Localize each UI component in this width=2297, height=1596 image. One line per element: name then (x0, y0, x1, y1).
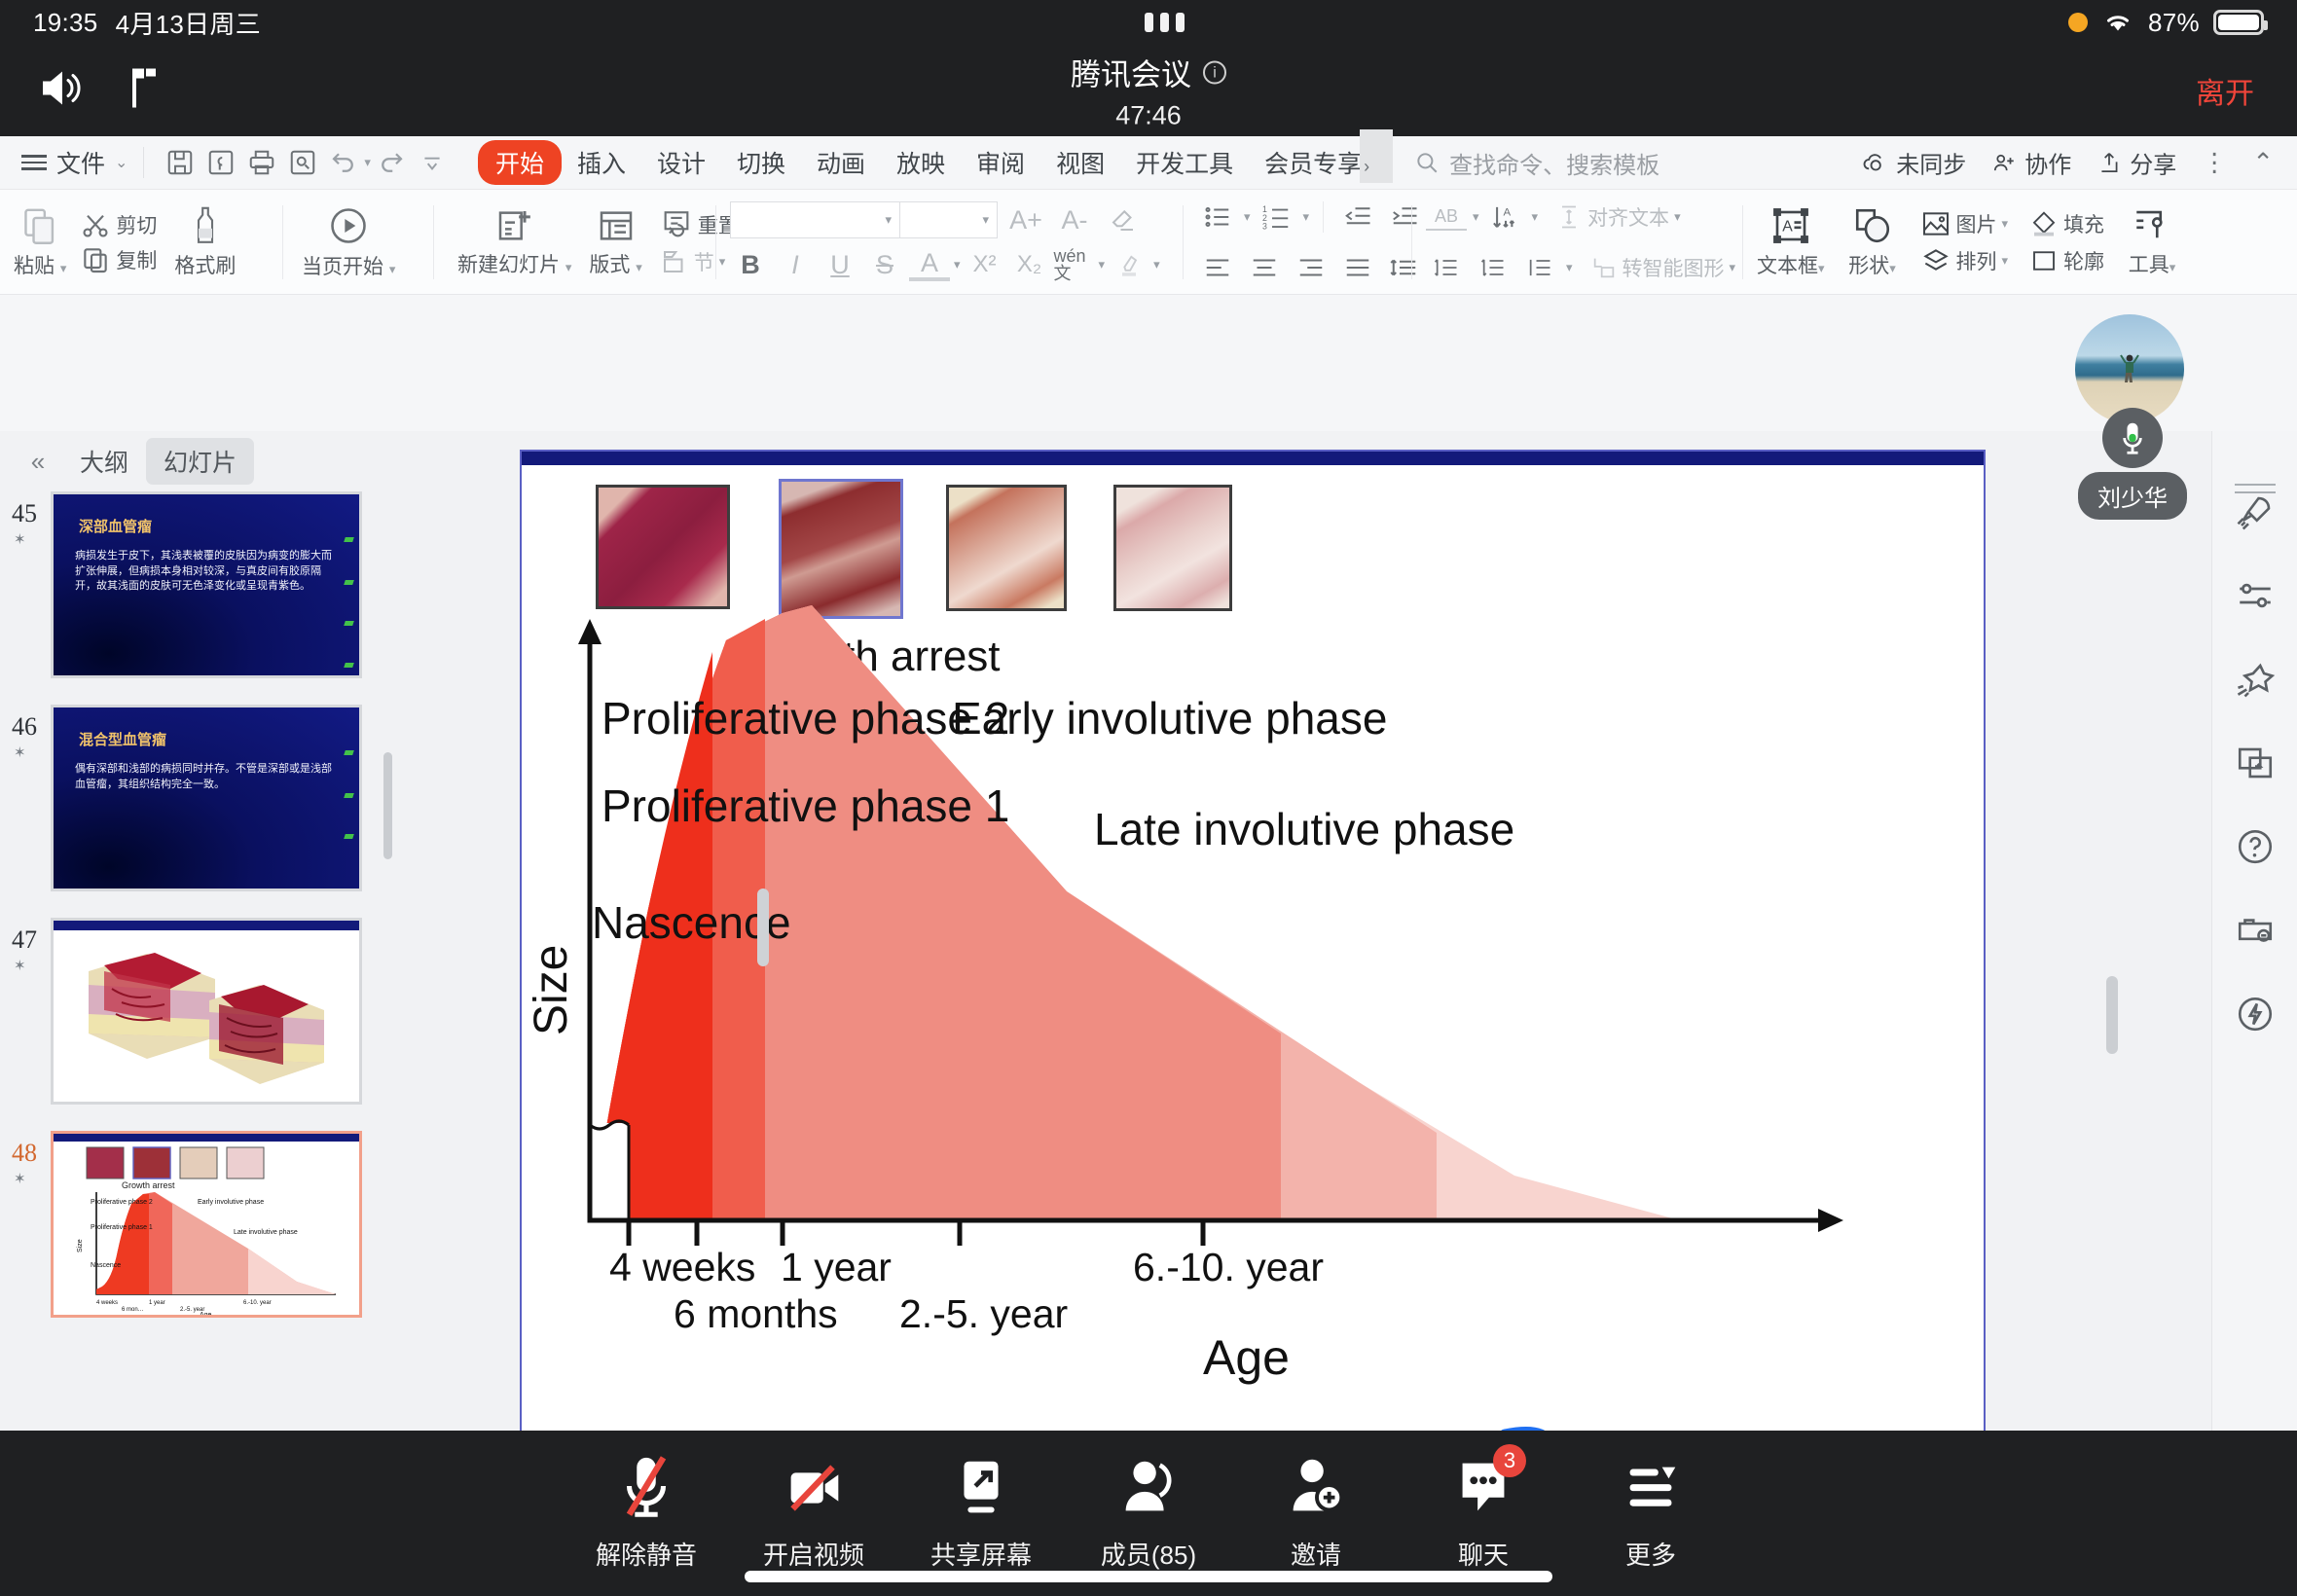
textbox-button[interactable]: A 文本框▾ (1757, 205, 1825, 279)
person-silhouette (2120, 351, 2139, 384)
format-painter-icon (189, 205, 222, 246)
align-right-button[interactable] (1291, 248, 1331, 287)
svg-text:A: A (1503, 207, 1511, 219)
print-preview-icon[interactable] (282, 142, 323, 183)
home-indicator (745, 1571, 1552, 1582)
status-right: 87% (2068, 8, 2264, 38)
bold-button[interactable]: B (730, 245, 771, 284)
chat-button[interactable]: 3 聊天 (1400, 1452, 1567, 1572)
arrange-label: 排列 (1956, 246, 1997, 275)
dynamic-island (1145, 13, 1185, 32)
shrink-font-button[interactable]: A- (1054, 200, 1095, 239)
decoration (344, 663, 354, 668)
chevron-down-icon: ▾ (60, 261, 67, 275)
start-from-current-label: 当页开始 (302, 256, 383, 278)
svg-text:6 mon…: 6 mon… (122, 1307, 144, 1313)
customize-toolbar-icon[interactable] (412, 142, 453, 183)
thumb-body: 偶有深部和浅部的病损同时并存。不管是深部或是浅部血管瘤，其组织结构完全一致。 (75, 762, 342, 792)
group-clipboard: 粘贴 ▾ 剪切 复制 格式刷 (14, 190, 236, 295)
align-center-button[interactable] (1244, 248, 1285, 287)
section-button[interactable]: 节 ▾ (660, 247, 739, 276)
tab-vip[interactable]: 会员专享› (1249, 141, 1385, 184)
clear-format-button[interactable] (1103, 200, 1144, 239)
layout-button[interactable]: 版式 ▾ (589, 206, 641, 278)
chevron-down-icon[interactable]: ▾ (1244, 209, 1251, 225)
unmute-label: 解除静音 (596, 1536, 697, 1572)
chevron-down-icon: ▾ (719, 254, 726, 270)
svg-text:Early involutive phase: Early involutive phase (198, 1199, 264, 1206)
outline-icon (2029, 246, 2059, 275)
fill-label: 填充 (2063, 209, 2104, 238)
decoration (344, 834, 354, 839)
ribbon-command-bar: 粘贴 ▾ 剪切 复制 格式刷 (0, 190, 2297, 295)
mic-status-icon (2102, 408, 2163, 468)
chevron-down-icon: ▾ (2002, 216, 2009, 232)
pane-header: « 大纲 幻灯片 (0, 431, 399, 491)
svg-text:Proliferative phase 1: Proliferative phase 1 (91, 1224, 153, 1231)
print-icon[interactable] (241, 142, 282, 183)
magic-star-icon[interactable] (2212, 637, 2297, 721)
save-icon[interactable] (160, 142, 201, 183)
search-icon (1414, 150, 1440, 175)
ribbon-tab-bar: 文件 ⌄ ▾ 开始 插入 设计 切换 动 (0, 136, 2297, 190)
battery-icon (2213, 10, 2264, 35)
chevron-down-icon: ▾ (1674, 209, 1681, 225)
meeting-header: 腾讯会议 i 47:46 离开 (0, 45, 2297, 136)
meeting-title: 腾讯会议 (1071, 51, 1191, 94)
share-screen-label: 共享屏幕 (930, 1536, 1032, 1572)
svg-text:Late involutive phase: Late involutive phase (234, 1229, 298, 1236)
align-left-button[interactable] (1197, 248, 1238, 287)
group-present: 当页开始 ▾ (302, 190, 395, 295)
tab-transition[interactable]: 切换 (721, 141, 801, 184)
x-axis-arrow (1818, 1209, 1843, 1232)
group-insert: A 文本框▾ 形状▾ 图片 ▾ (1757, 190, 2178, 295)
sort-button[interactable]: A (1485, 198, 1526, 236)
decoration (344, 793, 354, 798)
chevron-down-icon: ▾ (565, 260, 572, 274)
file-menu-button[interactable]: 文件 ⌄ (21, 145, 128, 180)
participant-name: 刘少华 (2078, 472, 2187, 520)
chevron-down-icon: ▾ (982, 212, 989, 228)
align-text-icon (1555, 203, 1583, 231)
share-screen-button[interactable]: 共享屏幕 (897, 1452, 1065, 1572)
meeting-header-icons (39, 67, 160, 115)
grow-font-button[interactable]: A+ (1005, 200, 1046, 239)
xtick-label-0: 4 weeks (609, 1245, 755, 1289)
format-painter-button[interactable]: 格式刷 (174, 205, 236, 279)
tab-slides[interactable]: 幻灯片 (146, 438, 254, 485)
ribbon-right-tools: 未同步 协作 分享 ⋮ ⌃ (1861, 146, 2274, 180)
slide-canvas-area: Growth arrest (399, 431, 2211, 1567)
ios-status-bar: 19:35 4月13日周三 87% (0, 0, 2297, 45)
chevron-down-icon[interactable]: ▾ (954, 257, 961, 272)
chevron-down-icon[interactable]: ▾ (1566, 260, 1573, 275)
recording-indicator-icon (2068, 13, 2088, 32)
hamburger-icon (21, 155, 47, 170)
shapes-label: 形状 (1848, 255, 1889, 277)
slide-number: 45 (12, 499, 37, 528)
reset-button[interactable]: 重置 (660, 208, 739, 241)
play-circle-icon (327, 204, 370, 247)
outline-label: 轮廓 (2063, 246, 2104, 275)
divider (1742, 205, 1743, 279)
pinyin-label: wén文 (1054, 247, 1095, 282)
italic-button[interactable]: I (775, 245, 816, 284)
spacing-button[interactable] (1519, 248, 1560, 287)
thumbnail-item[interactable]: 47 ✶ (0, 918, 399, 1108)
cloud-sync-icon (1861, 149, 1888, 176)
align-text-label: 对齐文本 (1587, 202, 1669, 232)
collaborate-button[interactable]: 协作 (1991, 146, 2071, 180)
chart-nascence-box (588, 1123, 629, 1220)
share-label: 分享 (2130, 146, 2176, 180)
invite-label: 邀请 (1291, 1536, 1341, 1572)
group-font: ▾ ▾ A+ A- B I U S A ▾ X² (730, 190, 1160, 295)
textbox-label: 文本框 (1757, 255, 1818, 277)
line-spacing-button[interactable] (1384, 248, 1425, 287)
tab-insert[interactable]: 插入 (562, 141, 641, 184)
tools-icon (2132, 206, 2172, 245)
sync-status-button[interactable]: 未同步 (1861, 146, 1966, 180)
svg-text:Size: Size (77, 1239, 84, 1252)
svg-text:3: 3 (1262, 222, 1267, 231)
chevron-down-icon: ▾ (1818, 261, 1825, 275)
x-ticks (629, 1220, 1203, 1246)
invite-button[interactable]: 邀请 (1232, 1452, 1400, 1572)
slide-thumbnail-47[interactable] (51, 918, 362, 1105)
pane-splitter-scrollbar[interactable] (757, 889, 769, 966)
chat-unread-badge: 3 (1493, 1444, 1526, 1477)
xtick-label-1: 6 months (674, 1291, 838, 1336)
search-placeholder: 查找命令、搜索模板 (1449, 146, 1659, 180)
speaker-icon[interactable] (39, 68, 84, 114)
collapse-ribbon-icon[interactable]: ⌃ (2252, 148, 2274, 178)
thumb-body: 病损发生于皮下，其浅表被覆的皮肤因为病变的膨大而扩张伸展，但病损本身相对较深，与… (75, 549, 342, 595)
decoration (344, 750, 354, 755)
divider (1183, 205, 1184, 279)
smartart-label: 转智能图形 (1622, 253, 1725, 282)
invite-icon (1281, 1452, 1351, 1524)
chevron-down-icon: ▾ (2002, 253, 2009, 269)
search-command-box[interactable]: 查找命令、搜索模板 (1414, 146, 1659, 180)
help-icon[interactable] (2212, 805, 2297, 889)
status-left: 19:35 4月13日周三 (33, 5, 261, 41)
xtick-label-3: 2.-5. year (899, 1291, 1068, 1336)
superscript-button[interactable]: X² (965, 245, 1005, 284)
more-label: 更多 (1625, 1536, 1676, 1572)
clear-format-icon (1109, 205, 1138, 235)
more-button[interactable]: 更多 (1567, 1452, 1734, 1572)
start-from-current-button[interactable]: 当页开始 ▾ (302, 204, 395, 280)
font-color-button[interactable]: A (909, 248, 950, 281)
svg-text:6.-10. year: 6.-10. year (243, 1300, 272, 1306)
x-axis-label: Age (1203, 1330, 1290, 1385)
text-direction-button[interactable]: AB (1426, 203, 1467, 231)
increase-indent-button[interactable] (1384, 198, 1425, 236)
smartart-icon (1590, 254, 1618, 281)
divider (143, 147, 144, 178)
svg-text:Nascence: Nascence (91, 1262, 121, 1269)
thumb-title-band: Growth and regression of infantile haema… (54, 1131, 359, 1134)
picture-button[interactable]: 图片 ▾ (1920, 209, 2009, 238)
tab-slideshow[interactable]: 放映 (881, 141, 961, 184)
tab-design[interactable]: 设计 (641, 141, 721, 184)
chevron-down-icon: ▾ (2169, 260, 2176, 274)
thumbnail-list[interactable]: 45 ✶ 深部血管瘤 病损发生于皮下，其浅表被覆的皮肤因为病变的膨大而扩张伸展，… (0, 491, 399, 1567)
thumbnail-scrollbar[interactable] (383, 752, 392, 859)
wifi-icon (2101, 11, 2134, 34)
chevron-down-icon[interactable]: ▾ (1532, 209, 1539, 225)
info-icon[interactable]: i (1203, 60, 1226, 84)
chevron-right-icon: › (1364, 157, 1369, 176)
tab-view[interactable]: 视图 (1040, 141, 1120, 184)
status-time: 19:35 (33, 8, 98, 38)
cut-label: 剪切 (116, 210, 157, 239)
thumb-title: 深部血管瘤 (79, 516, 152, 536)
annotation-late-involutive: Late involutive phase (1094, 804, 1514, 854)
arrange-icon (1920, 246, 1951, 275)
strikethrough-button[interactable]: S (864, 245, 905, 284)
haemangioma-growth-chart: 4 weeks 6 months 1 year 2.-5. year 6.-10… (522, 452, 1986, 1544)
new-slide-button[interactable]: 新建幻灯片 ▾ (457, 206, 571, 278)
copy-button[interactable]: 复制 (80, 244, 157, 275)
paste-label: 粘贴 (14, 255, 55, 277)
chevron-down-icon: ▾ (389, 262, 396, 276)
leave-meeting-button[interactable]: 离开 (2196, 69, 2254, 112)
animation-star-icon: ✶ (14, 957, 26, 974)
y-axis-arrow (578, 619, 602, 644)
chevron-down-icon: ▾ (1889, 261, 1896, 275)
pinyin-guide-button[interactable]: wén文 (1054, 245, 1095, 284)
decoration (344, 621, 354, 626)
divider (282, 205, 283, 279)
participants-label: 成员(85) (1101, 1536, 1196, 1572)
highlight-icon (1115, 251, 1143, 278)
slide-thumbnail-pane: « 大纲 幻灯片 45 ✶ 深部血管瘤 病损发生于皮下，其浅表被覆的皮肤因为病变… (0, 431, 399, 1567)
file-menu-label: 文件 (56, 145, 105, 180)
right-tool-rail (2211, 431, 2297, 1567)
new-slide-label: 新建幻灯片 (457, 254, 560, 276)
copy-icon (80, 244, 111, 275)
section-label: 节 (694, 247, 714, 276)
layout-label: 版式 (589, 254, 630, 276)
dermis-illustration (54, 921, 362, 1105)
paste-icon (20, 205, 59, 246)
section-icon (660, 247, 689, 276)
collaborate-icon (1991, 149, 2017, 176)
chat-label: 聊天 (1458, 1536, 1509, 1572)
scissors-icon (80, 209, 111, 240)
share-icon (2096, 149, 2122, 176)
chevron-down-icon[interactable]: ▾ (1099, 257, 1106, 272)
align-text-button[interactable]: 对齐文本 ▾ (1555, 202, 1681, 232)
numbered-list-button[interactable]: 123 (1257, 198, 1297, 236)
svg-text:1 year: 1 year (149, 1300, 165, 1306)
divider (715, 205, 716, 279)
fill-icon (2029, 209, 2059, 238)
chevron-down-icon: ▾ (885, 212, 892, 228)
meeting-timer: 47:46 (1071, 101, 1226, 131)
slide-number: 47 (12, 925, 37, 955)
thumbnail-chart: Growth arrest Proliferative phase 2 Prol… (54, 1134, 362, 1318)
thumbnail-item[interactable]: 48 ✶ Growth arrest (0, 1131, 399, 1322)
wps-presentation-app: 文件 ⌄ ▾ 开始 插入 设计 切换 动 (0, 136, 2297, 1431)
svg-text:Proliferative phase 2: Proliferative phase 2 (91, 1199, 153, 1206)
shapes-button[interactable]: 形状▾ (1846, 205, 1899, 279)
tab-outline[interactable]: 大纲 (62, 438, 146, 485)
highlight-button[interactable] (1109, 245, 1149, 284)
lower-button[interactable] (1473, 248, 1513, 287)
animation-star-icon: ✶ (14, 744, 26, 761)
chevron-down-icon: ▾ (636, 260, 642, 274)
xtick-label-4: 6.-10. year (1133, 1245, 1324, 1289)
layout-icon (597, 206, 636, 245)
sync-status-label: 未同步 (1896, 146, 1966, 180)
meeting-control-bar: 解除静音 开启视频 共享屏幕 (0, 1431, 2297, 1596)
tab-vip-label: 会员专享 (1264, 151, 1362, 178)
meeting-title-block: 腾讯会议 i 47:46 (1071, 51, 1226, 131)
arrange-button[interactable]: 排列 ▾ (1920, 246, 2009, 275)
rail-collapse-icon[interactable] (2235, 484, 2276, 499)
svg-text:A: A (1782, 218, 1793, 235)
collapse-pane-icon[interactable]: « (14, 447, 62, 477)
svg-text:Age: Age (200, 1312, 212, 1318)
underline-button[interactable]: U (820, 245, 860, 284)
convert-smartart-button[interactable]: 转智能图形 ▾ (1590, 253, 1736, 282)
more-vertical-icon[interactable]: ⋮ (2202, 148, 2227, 178)
tab-start[interactable]: 开始 (478, 140, 562, 185)
collaborate-label: 协作 (2024, 146, 2071, 180)
lightning-icon[interactable] (2212, 972, 2297, 1056)
meeting-title-row: 腾讯会议 i (1071, 51, 1226, 94)
picture-tools-icon[interactable] (2212, 889, 2297, 972)
video-off-icon (779, 1452, 849, 1524)
align-justify-button[interactable] (1337, 248, 1378, 287)
redo-icon[interactable] (371, 142, 412, 183)
font-size-input[interactable]: ▾ (900, 201, 998, 238)
tools-button[interactable]: 工具▾ (2126, 206, 2178, 278)
group-text: AB ▾ A ▾ 对齐文本 ▾ ▾ (1426, 190, 1735, 295)
unmute-button[interactable]: 解除静音 (563, 1452, 730, 1572)
divider (433, 205, 434, 279)
annotation-proliferative-1: Proliferative phase 1 (602, 780, 1009, 831)
chevron-down-icon[interactable]: ▾ (1473, 209, 1479, 225)
cut-button[interactable]: 剪切 (80, 209, 157, 240)
chevron-down-icon[interactable]: ▾ (1153, 257, 1160, 272)
xtick-label-2: 1 year (781, 1245, 892, 1289)
save-as-icon[interactable] (201, 142, 241, 183)
font-name-input[interactable]: ▾ (730, 201, 900, 238)
divider (1323, 201, 1324, 233)
meeting-controls: 解除静音 开启视频 共享屏幕 (563, 1452, 1734, 1572)
slide-thumbnail-45[interactable]: 深部血管瘤 病损发生于皮下，其浅表被覆的皮肤因为病变的膨大而扩张伸展，但病损本身… (51, 491, 362, 678)
slide-number: 48 (12, 1139, 37, 1168)
textbox-icon: A (1770, 205, 1811, 246)
tools-label: 工具 (2129, 254, 2169, 276)
main-area: « 大纲 幻灯片 45 ✶ 深部血管瘤 病损发生于皮下，其浅表被覆的皮肤因为病变… (0, 431, 2297, 1567)
divider (1411, 205, 1412, 279)
chevron-down-icon: ▾ (1730, 260, 1736, 275)
share-screen-icon (946, 1452, 1016, 1524)
start-video-button[interactable]: 开启视频 (730, 1452, 897, 1572)
thumbnail-item[interactable]: 46 ✶ 混合型血管瘤 偶有深部和浅部的病损同时并存。不管是深部或是浅部血管瘤，… (0, 705, 399, 895)
participants-icon (1113, 1452, 1184, 1524)
battery-percent: 87% (2148, 8, 2200, 38)
chevron-down-icon: ⌄ (115, 153, 128, 172)
annotation-proliferative-2: Proliferative phase 2 (602, 693, 1009, 744)
reset-icon (660, 208, 693, 241)
paste-button[interactable]: 粘贴 ▾ (14, 205, 66, 279)
subscript-button[interactable]: X₂ (1009, 245, 1050, 284)
canvas-vertical-scrollbar[interactable] (2106, 976, 2118, 1054)
picture-icon (1920, 209, 1951, 238)
svg-text:Growth arrest: Growth arrest (122, 1180, 175, 1190)
shapes-icon (1852, 205, 1893, 246)
copy-label: 复制 (116, 245, 157, 274)
animation-star-icon: ✶ (14, 530, 26, 548)
rocket-icon[interactable] (2212, 470, 2297, 554)
thumb-title: 混合型血管瘤 (79, 729, 166, 749)
tab-developer[interactable]: 开发工具 (1120, 141, 1249, 184)
more-icon (1616, 1452, 1686, 1524)
decrease-indent-button[interactable] (1337, 198, 1378, 236)
bullet-list-button[interactable] (1197, 198, 1238, 236)
sliders-icon[interactable] (2212, 554, 2297, 637)
mic-off-icon (611, 1452, 681, 1524)
replace-icon[interactable] (2212, 721, 2297, 805)
participants-button[interactable]: 成员(85) (1065, 1452, 1232, 1572)
decoration (344, 580, 354, 585)
slide-thumbnail-48[interactable]: Growth arrest Proliferative phase 2 Prol… (51, 1131, 362, 1318)
new-slide-icon (495, 206, 534, 245)
thumbnail-item[interactable]: 45 ✶ 深部血管瘤 病损发生于皮下，其浅表被覆的皮肤因为病变的膨大而扩张伸展，… (0, 491, 399, 682)
animation-star-icon: ✶ (14, 1170, 26, 1187)
undo-icon[interactable] (323, 142, 364, 183)
outline-button[interactable]: 轮廓 (2029, 246, 2104, 275)
current-slide[interactable]: Growth arrest (520, 450, 1986, 1544)
slide-thumbnail-46[interactable]: 混合型血管瘤 偶有深部和浅部的病损同时并存。不管是深部或是浅部血管瘤，其组织结构… (51, 705, 362, 891)
picture-label: 图片 (1956, 209, 1997, 238)
slide-number: 46 (12, 712, 37, 742)
share-button[interactable]: 分享 (2096, 146, 2176, 180)
format-painter-label: 格式刷 (174, 250, 236, 279)
group-slides: 新建幻灯片 ▾ 版式 ▾ 重置 节 ▾ (457, 190, 739, 295)
svg-text:4 weeks: 4 weeks (96, 1300, 118, 1306)
phone-icon[interactable] (125, 67, 160, 115)
start-video-label: 开启视频 (763, 1536, 864, 1572)
annotation-early-involutive: Early involutive phase (952, 693, 1387, 744)
decoration (344, 537, 354, 542)
tab-animation[interactable]: 动画 (801, 141, 881, 184)
raise-button[interactable] (1426, 248, 1467, 287)
chevron-down-icon[interactable]: ▾ (1303, 209, 1310, 225)
group-paragraph: ▾ 123 ▾ (1197, 190, 1425, 295)
tab-review[interactable]: 审阅 (961, 141, 1040, 184)
participant-video-tile[interactable]: 刘少华 (2075, 314, 2190, 423)
fill-button[interactable]: 填充 (2029, 209, 2104, 238)
y-axis-label: Size (526, 945, 577, 1035)
status-date: 4月13日周三 (116, 5, 261, 41)
